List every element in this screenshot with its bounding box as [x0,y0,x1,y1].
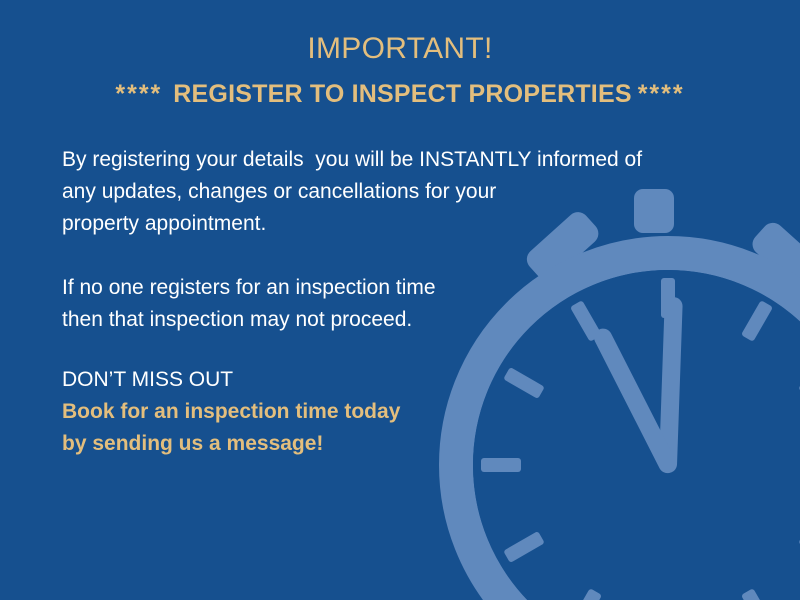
slide-canvas: IMPORTANT! ****REGISTER TO INSPECT PROPE… [0,0,800,600]
paragraph-no-registration-warning: If no one registers for an inspection ti… [62,272,622,336]
paragraph-registering-details: By registering your details you will be … [62,144,722,240]
paragraph2-line1: If no one registers for an inspection ti… [62,272,622,304]
slide-content: IMPORTANT! ****REGISTER TO INSPECT PROPE… [0,0,800,600]
call-to-action-block: DON’T MISS OUT Book for an inspection ti… [62,364,582,460]
asterisks-trailing: **** [638,80,685,108]
headline-subtitle: ****REGISTER TO INSPECT PROPERTIES**** [0,76,800,112]
paragraph1-line2: any updates, changes or cancellations fo… [62,176,722,208]
asterisks-leading: **** [115,80,162,108]
page-title: IMPORTANT! [0,30,800,68]
cta-line-send-message: by sending us a message! [62,428,582,460]
headline-block: IMPORTANT! ****REGISTER TO INSPECT PROPE… [0,30,800,112]
paragraph2-line2: then that inspection may not proceed. [62,304,622,336]
headline-subtitle-text: REGISTER TO INSPECT PROPERTIES [173,80,631,108]
paragraph1-line1: By registering your details you will be … [62,144,722,176]
cta-line-dont-miss-out: DON’T MISS OUT [62,364,582,396]
cta-line-book-inspection: Book for an inspection time today [62,396,582,428]
paragraph1-line3: property appointment. [62,208,722,240]
